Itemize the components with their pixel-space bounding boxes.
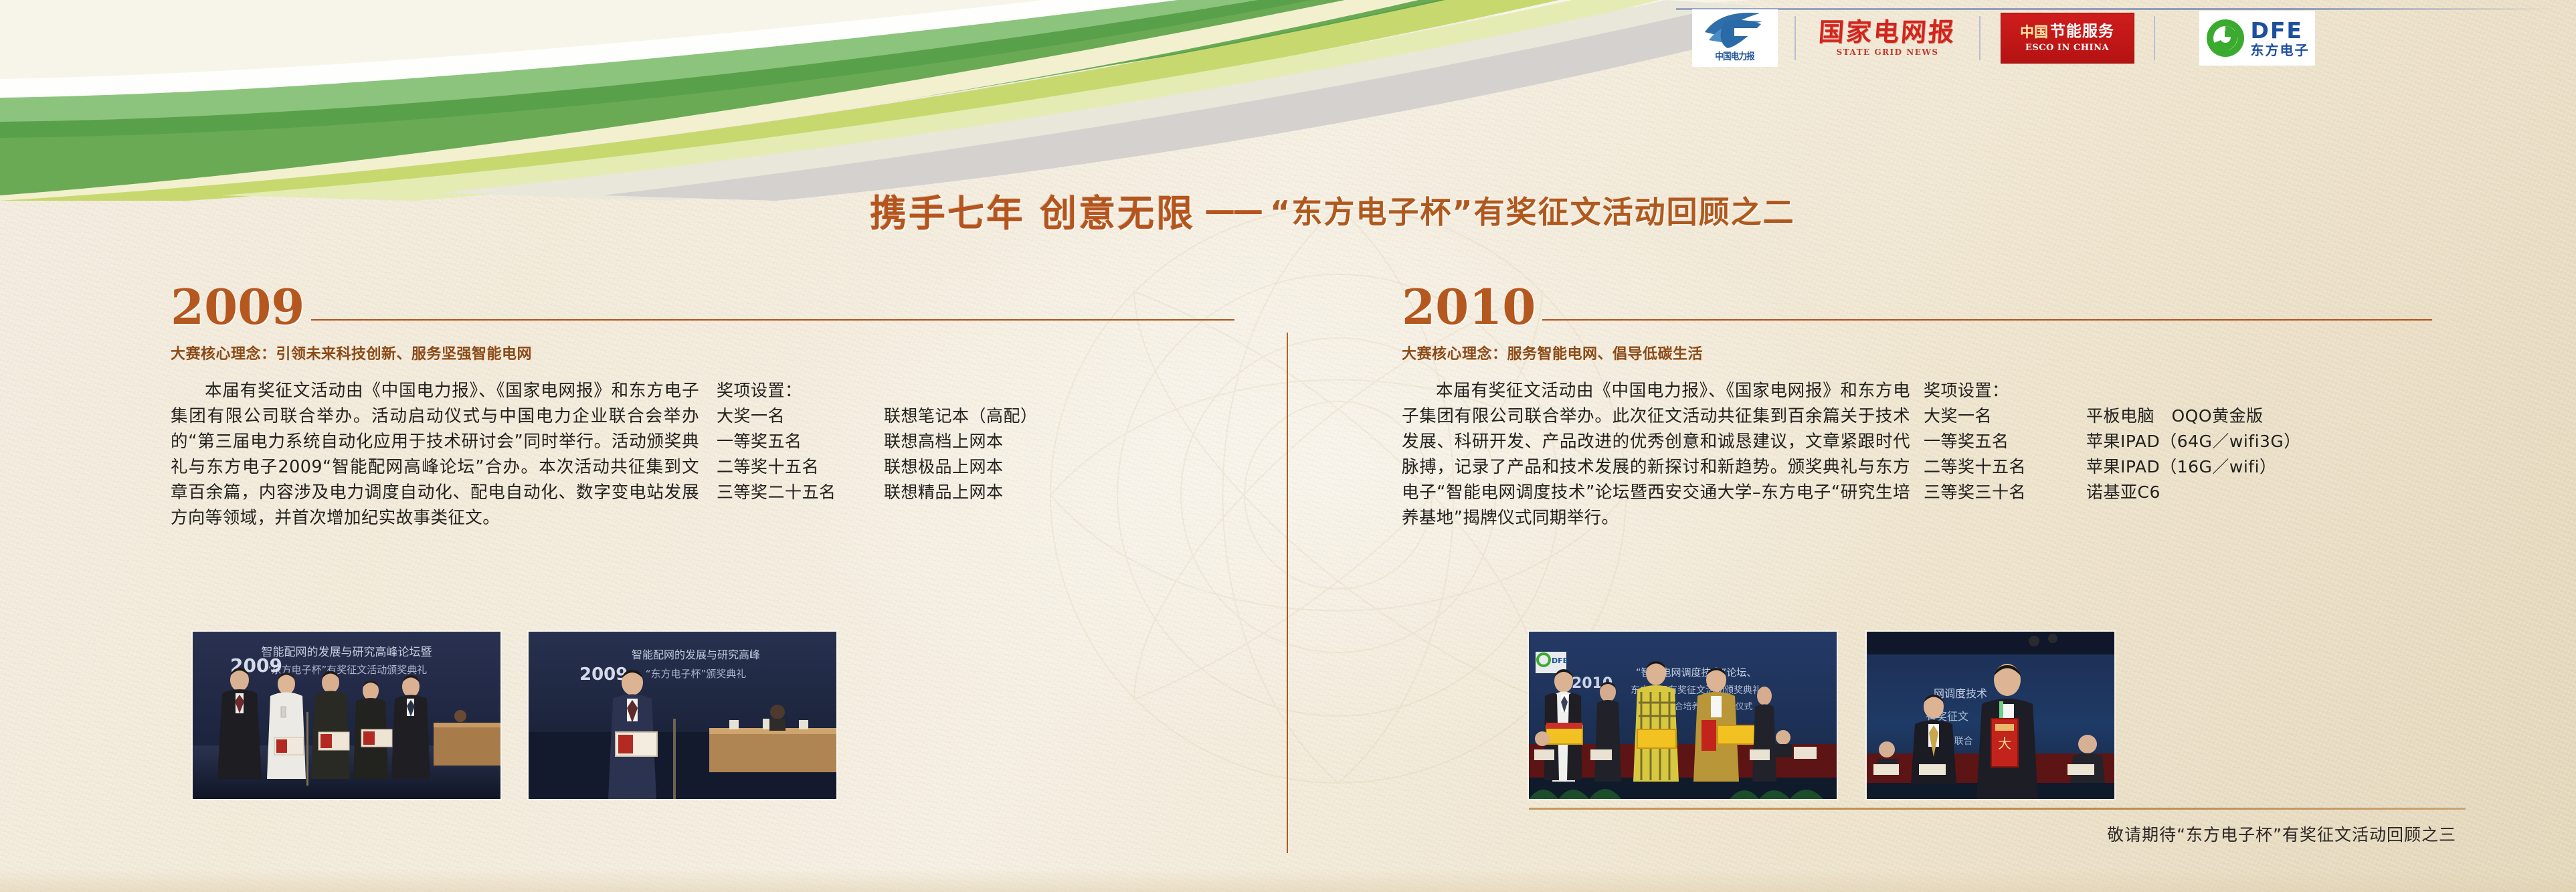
award-name: 二等奖十五名 (1924, 454, 2086, 480)
photo-2009-award-winner: 智能配网的发展与研究高峰 “东方电子杯”颁奖典礼 2009 (529, 632, 836, 799)
award-prize: 诺基亚C6 (2086, 480, 2160, 505)
logo-dfe-en: DFE (2251, 19, 2303, 41)
body-paragraph-2010: 本届有奖征文活动由《中国电力报》、《国家电网报》和东方电子集团有限公司联合举办。… (1402, 378, 1910, 531)
core-concept-2009: 大赛核心理念：引领未来科技创新、服务坚强智能电网 (171, 342, 1234, 363)
award-name: 大奖一名 (717, 404, 884, 429)
year-number: 2009 (171, 285, 304, 329)
award-row: 一等奖五名 联想高档上网本 (717, 429, 1038, 454)
year-rule (311, 319, 1234, 321)
photo-2010-award-winner: 网调度技术 有奖征文 “研究生联合 大 (1867, 632, 2114, 799)
year-heading-2009: 2009 (171, 281, 1234, 329)
award-row: 三等奖三十名 诺基亚C6 (1924, 480, 2301, 505)
page-title-dash: —— (1204, 192, 1261, 228)
svg-text:智能配网的发展与研究高峰论坛暨: 智能配网的发展与研究高峰论坛暨 (262, 646, 432, 659)
footer-rule (1529, 808, 2466, 810)
column-divider (1287, 333, 1288, 853)
body-paragraph-2009: 本届有奖征文活动由《中国电力报》、《国家电网报》和东方电子集团有限公司联合举办。… (171, 378, 699, 531)
svg-text:网调度技术: 网调度技术 (1934, 687, 1987, 700)
award-name: 二等奖十五名 (717, 454, 884, 480)
logo-china-electric-power-news-text: 中国电力报 (1715, 50, 1754, 63)
award-row: 一等奖五名 苹果IPAD（64G／wifi3G） (1924, 429, 2301, 454)
award-name: 三等奖二十五名 (717, 480, 884, 505)
bottom-band (0, 869, 2576, 892)
award-row: 二等奖十五名 苹果IPAD（16G／wifi） (1924, 454, 2301, 480)
photo-2010-award-ceremony-group: “智能电网调度技术”论坛、 东方电子有奖征文活动颁奖典礼 研究生联合培养基地揭牌… (1529, 632, 1837, 799)
logo-separator (1979, 16, 1981, 60)
award-prize: 联想高档上网本 (884, 429, 1004, 454)
logo-separator (2154, 16, 2155, 60)
logo-dfe-cn: 东方电子 (2251, 43, 2310, 58)
award-prize: 联想笔记本（高配） (884, 404, 1038, 429)
svg-text:智能配网的发展与研究高峰: 智能配网的发展与研究高峰 (632, 648, 760, 661)
awards-list-2009: 奖项设置： 大奖一名 联想笔记本（高配） 一等奖五名 联想高档上网本 二等奖十五… (717, 378, 1038, 531)
year-rule (1542, 319, 2432, 321)
page-title: 携手七年 创意无限 —— “东方电子杯”有奖征文活动回顾之二 (870, 189, 2275, 231)
awards-title: 奖项设置： (717, 378, 1038, 404)
award-prize: 联想精品上网本 (884, 480, 1004, 505)
core-concept-2010: 大赛核心理念：服务智能电网、倡导低碳生活 (1402, 342, 2432, 363)
logo-state-grid-news[interactable]: 国家电网报 STATE GRID NEWS (1797, 9, 1978, 67)
award-row: 大奖一名 联想笔记本（高配） (717, 404, 1038, 429)
svg-text:大: 大 (1998, 735, 2011, 751)
page-title-main: 携手七年 创意无限 (870, 183, 1195, 237)
award-prize: 平板电脑 OQO黄金版 (2086, 404, 2264, 429)
award-name: 三等奖三十名 (1924, 480, 2086, 505)
year-heading-2010: 2010 (1402, 281, 2432, 329)
logo-separator (1795, 16, 1796, 60)
logo-china-electric-power-news[interactable]: 中国电力报 (1676, 9, 1793, 67)
poster-background: 中国电力报 国家电网报 STATE GRID NEWS 中国 节能服务 ESCO… (0, 0, 2576, 892)
award-prize: 联想极品上网本 (884, 454, 1004, 480)
award-name: 大奖一名 (1924, 404, 2086, 429)
svg-text:DFE: DFE (1552, 656, 1568, 665)
page-title-sub: “东方电子杯”有奖征文活动回顾之二 (1270, 188, 1795, 232)
logo-state-grid-news-en: STATE GRID NEWS (1836, 48, 1938, 57)
logo-esco-en: ESCO IN CHINA (2025, 43, 2109, 53)
award-row: 大奖一名 平板电脑 OQO黄金版 (1924, 404, 2301, 429)
china-electric-power-news-mark-icon (1695, 9, 1774, 51)
award-name: 一等奖五名 (1924, 429, 2086, 454)
year-number: 2010 (1402, 285, 1536, 329)
award-row: 二等奖十五名 联想极品上网本 (717, 454, 1038, 480)
svg-text:“东方电子杯”颁奖典礼: “东方电子杯”颁奖典礼 (646, 668, 747, 680)
logo-esco-cn: 节能服务 (2050, 24, 2114, 39)
footer-note: 敬请期待“东方电子杯”有奖征文活动回顾之三 (1529, 822, 2466, 846)
year-column-2010: 2010 大赛核心理念：服务智能电网、倡导低碳生活 本届有奖征文活动由《中国电力… (1402, 281, 2432, 531)
photo-2009-award-ceremony-group: 智能配网的发展与研究高峰论坛暨 “东方电子杯”有奖征文活动颁奖典礼 2009 (193, 632, 500, 799)
green-swoosh-graphic (0, 0, 1753, 201)
esco-china-mark-icon: 中国 (2020, 25, 2048, 39)
logo-state-grid-news-cn: 国家电网报 (1818, 19, 1957, 45)
awards-title: 奖项设置： (1924, 378, 2301, 404)
sponsor-logo-bar: 中国电力报 国家电网报 STATE GRID NEWS 中国 节能服务 ESCO… (1676, 9, 2558, 67)
logo-dfe[interactable]: DFE 东方电子 (2156, 9, 2357, 67)
award-prize: 苹果IPAD（16G／wifi） (2086, 454, 2277, 480)
award-prize: 苹果IPAD（64G／wifi3G） (2086, 429, 2301, 454)
year-column-2009: 2009 大赛核心理念：引领未来科技创新、服务坚强智能电网 本届有奖征文活动由《… (171, 281, 1234, 531)
svg-text:2009: 2009 (579, 664, 628, 685)
dfe-swirl-icon (2205, 17, 2246, 59)
awards-list-2010: 奖项设置： 大奖一名 平板电脑 OQO黄金版 一等奖五名 苹果IPAD（64G／… (1924, 378, 2301, 531)
award-row: 三等奖二十五名 联想精品上网本 (717, 480, 1038, 505)
award-name: 一等奖五名 (717, 429, 884, 454)
logo-esco-in-china[interactable]: 中国 节能服务 ESCO IN CHINA (1982, 9, 2152, 67)
